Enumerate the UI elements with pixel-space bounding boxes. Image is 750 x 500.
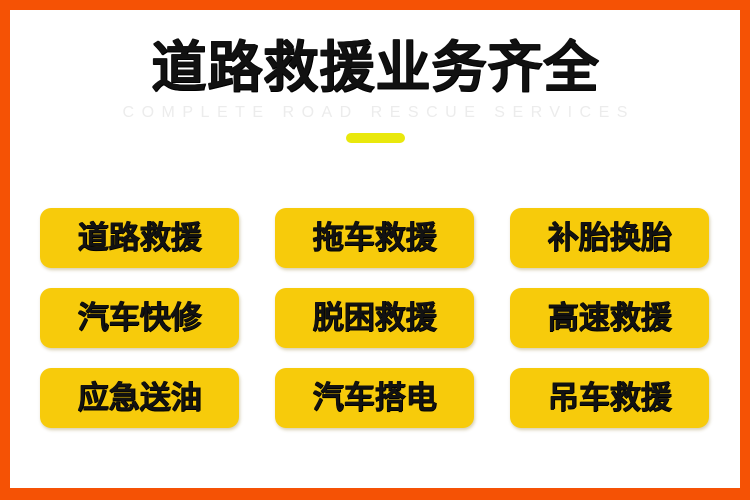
service-button-emergency-fuel-delivery[interactable]: 应急送油 bbox=[40, 368, 239, 428]
service-button-quick-car-repair[interactable]: 汽车快修 bbox=[40, 288, 239, 348]
service-button-label: 高速救援 bbox=[548, 303, 672, 334]
service-button-label: 汽车快修 bbox=[78, 303, 202, 334]
service-button-jump-start[interactable]: 汽车搭电 bbox=[275, 368, 474, 428]
page-title: 道路救援业务齐全 bbox=[10, 40, 740, 95]
service-button-highway-rescue[interactable]: 高速救援 bbox=[510, 288, 709, 348]
service-button-label: 脱困救援 bbox=[313, 303, 437, 334]
service-button-label: 吊车救援 bbox=[548, 383, 672, 414]
service-button-tire-repair-replace[interactable]: 补胎换胎 bbox=[510, 208, 709, 268]
service-button-label: 应急送油 bbox=[78, 383, 202, 414]
page-subtitle: COMPLETE ROAD RESCUE SERVICES bbox=[10, 104, 740, 122]
poster-root: 道路救援业务齐全 COMPLETE ROAD RESCUE SERVICES 道… bbox=[0, 0, 750, 500]
service-button-label: 拖车救援 bbox=[313, 223, 437, 254]
service-button-extrication-rescue[interactable]: 脱困救援 bbox=[275, 288, 474, 348]
service-button-crane-rescue[interactable]: 吊车救援 bbox=[510, 368, 709, 428]
service-button-tow-rescue[interactable]: 拖车救援 bbox=[275, 208, 474, 268]
service-button-grid: 道路救援 拖车救援 补胎换胎 汽车快修 脱困救援 高速救援 应急送油 汽车搭电 bbox=[40, 208, 720, 428]
service-button-label: 道路救援 bbox=[78, 223, 202, 254]
poster-inner-canvas: 道路救援业务齐全 COMPLETE ROAD RESCUE SERVICES 道… bbox=[10, 10, 740, 488]
service-button-road-rescue[interactable]: 道路救援 bbox=[40, 208, 239, 268]
header: 道路救援业务齐全 COMPLETE ROAD RESCUE SERVICES bbox=[10, 10, 740, 143]
service-button-label: 补胎换胎 bbox=[548, 223, 672, 254]
service-button-label: 汽车搭电 bbox=[313, 383, 437, 414]
accent-divider-bar bbox=[346, 133, 405, 143]
